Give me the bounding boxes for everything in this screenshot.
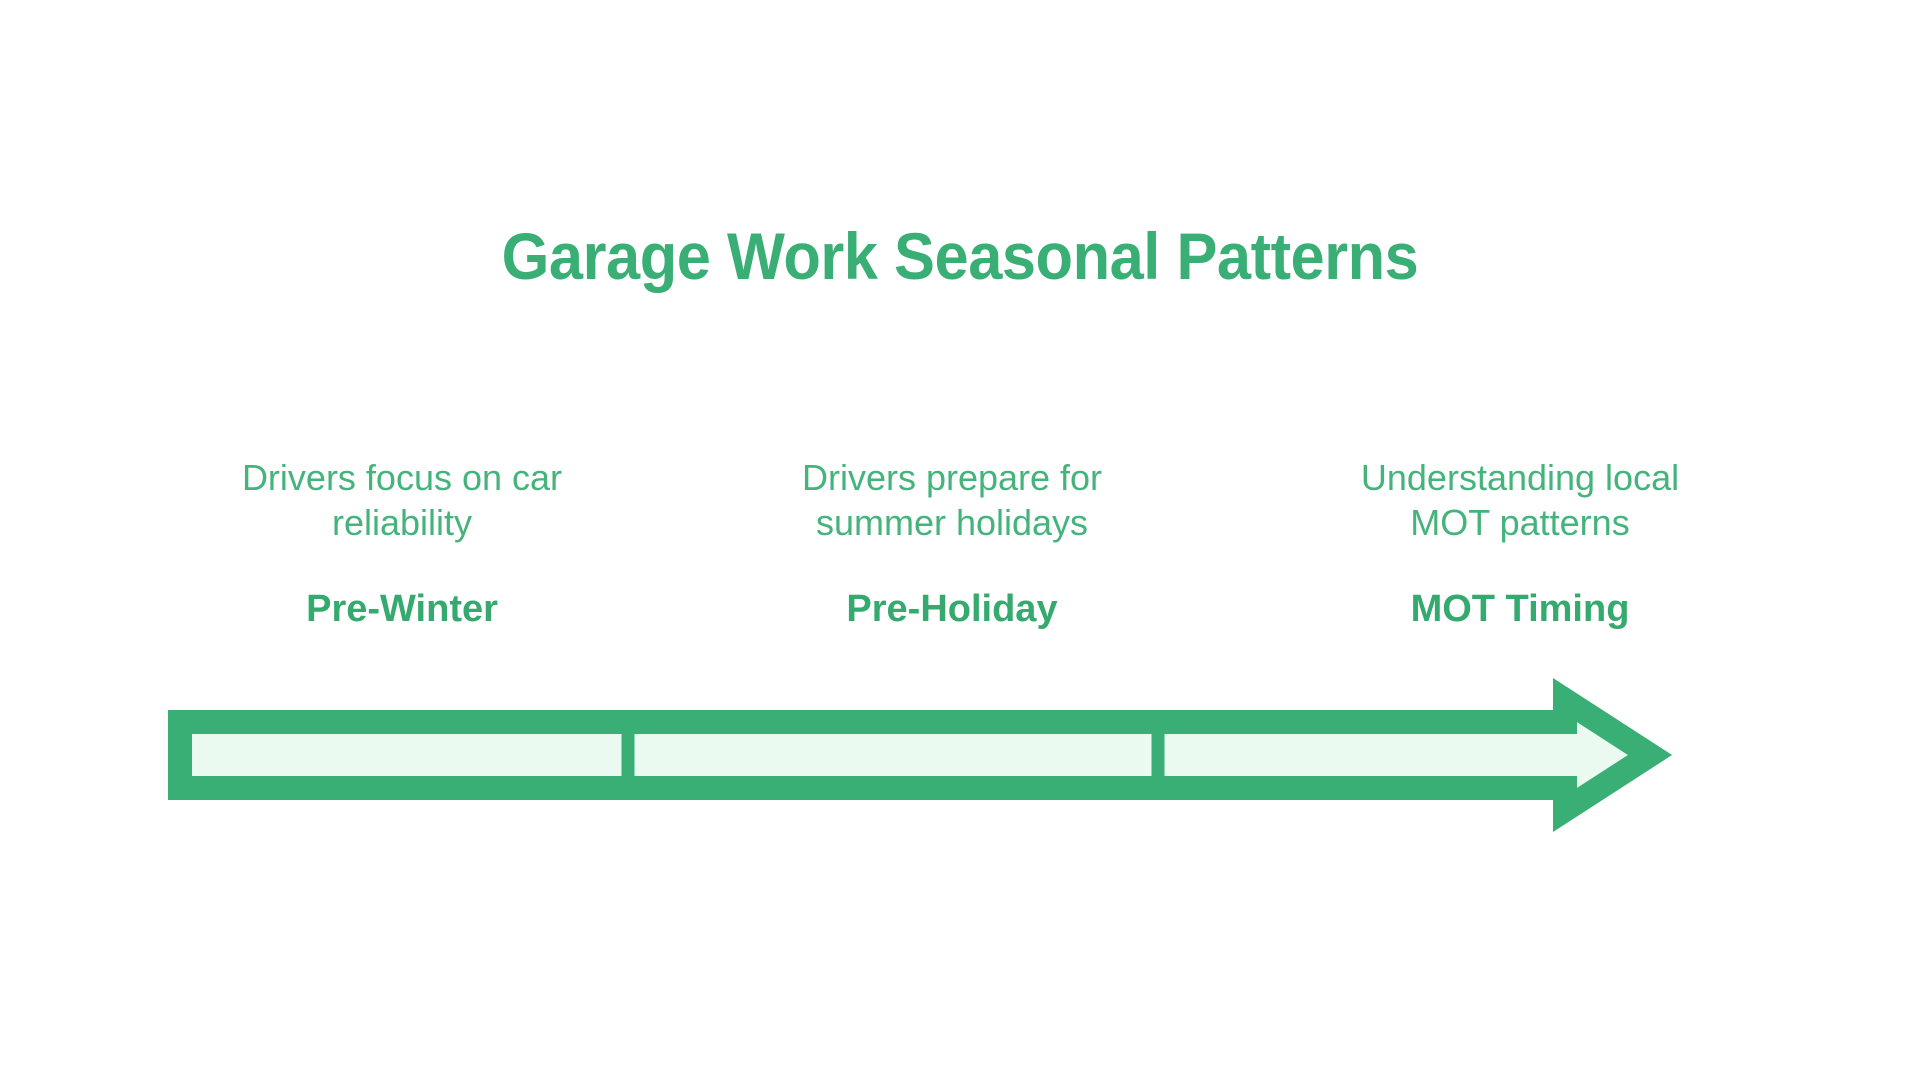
timeline-stage-columns: Drivers focus on car reliability Pre-Win… (180, 455, 1740, 685)
timeline-arrow (170, 700, 1770, 810)
stage-label: Pre-Holiday (846, 587, 1057, 633)
timeline-arrow-graphic (170, 700, 1770, 810)
slide-canvas: Garage Work Seasonal Patterns Drivers fo… (0, 0, 1920, 1080)
stage-label: Pre-Winter (306, 587, 498, 633)
timeline-stage-1: Drivers focus on car reliability Pre-Win… (142, 455, 662, 633)
timeline-stage-3: Understanding local MOT patterns MOT Tim… (1260, 455, 1780, 633)
timeline-stage-2: Drivers prepare for summer holidays Pre-… (692, 455, 1212, 633)
stage-label: MOT Timing (1411, 587, 1630, 633)
page-title: Garage Work Seasonal Patterns (67, 220, 1853, 293)
stage-description: Understanding local MOT patterns (1361, 455, 1679, 545)
stage-description: Drivers focus on car reliability (242, 455, 562, 545)
right-arrow-icon (180, 700, 1650, 810)
stage-description: Drivers prepare for summer holidays (802, 455, 1102, 545)
